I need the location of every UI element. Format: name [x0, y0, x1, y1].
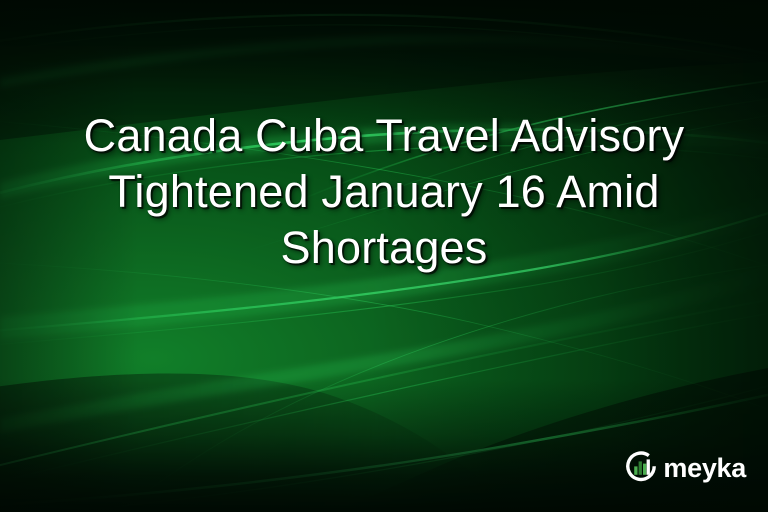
headline-line-1: Canada Cuba Travel Advisory: [28, 108, 740, 164]
meyka-ring-bar-chart-icon: [624, 450, 658, 484]
headline: Canada Cuba Travel Advisory Tightened Ja…: [0, 108, 768, 276]
meyka-wordmark: meyka: [663, 455, 746, 482]
meyka-logo[interactable]: meyka: [624, 450, 746, 484]
headline-line-2: Tightened January 16 Amid: [28, 164, 740, 220]
social-share-card: Canada Cuba Travel Advisory Tightened Ja…: [0, 0, 768, 512]
headline-line-3: Shortages: [28, 220, 740, 276]
